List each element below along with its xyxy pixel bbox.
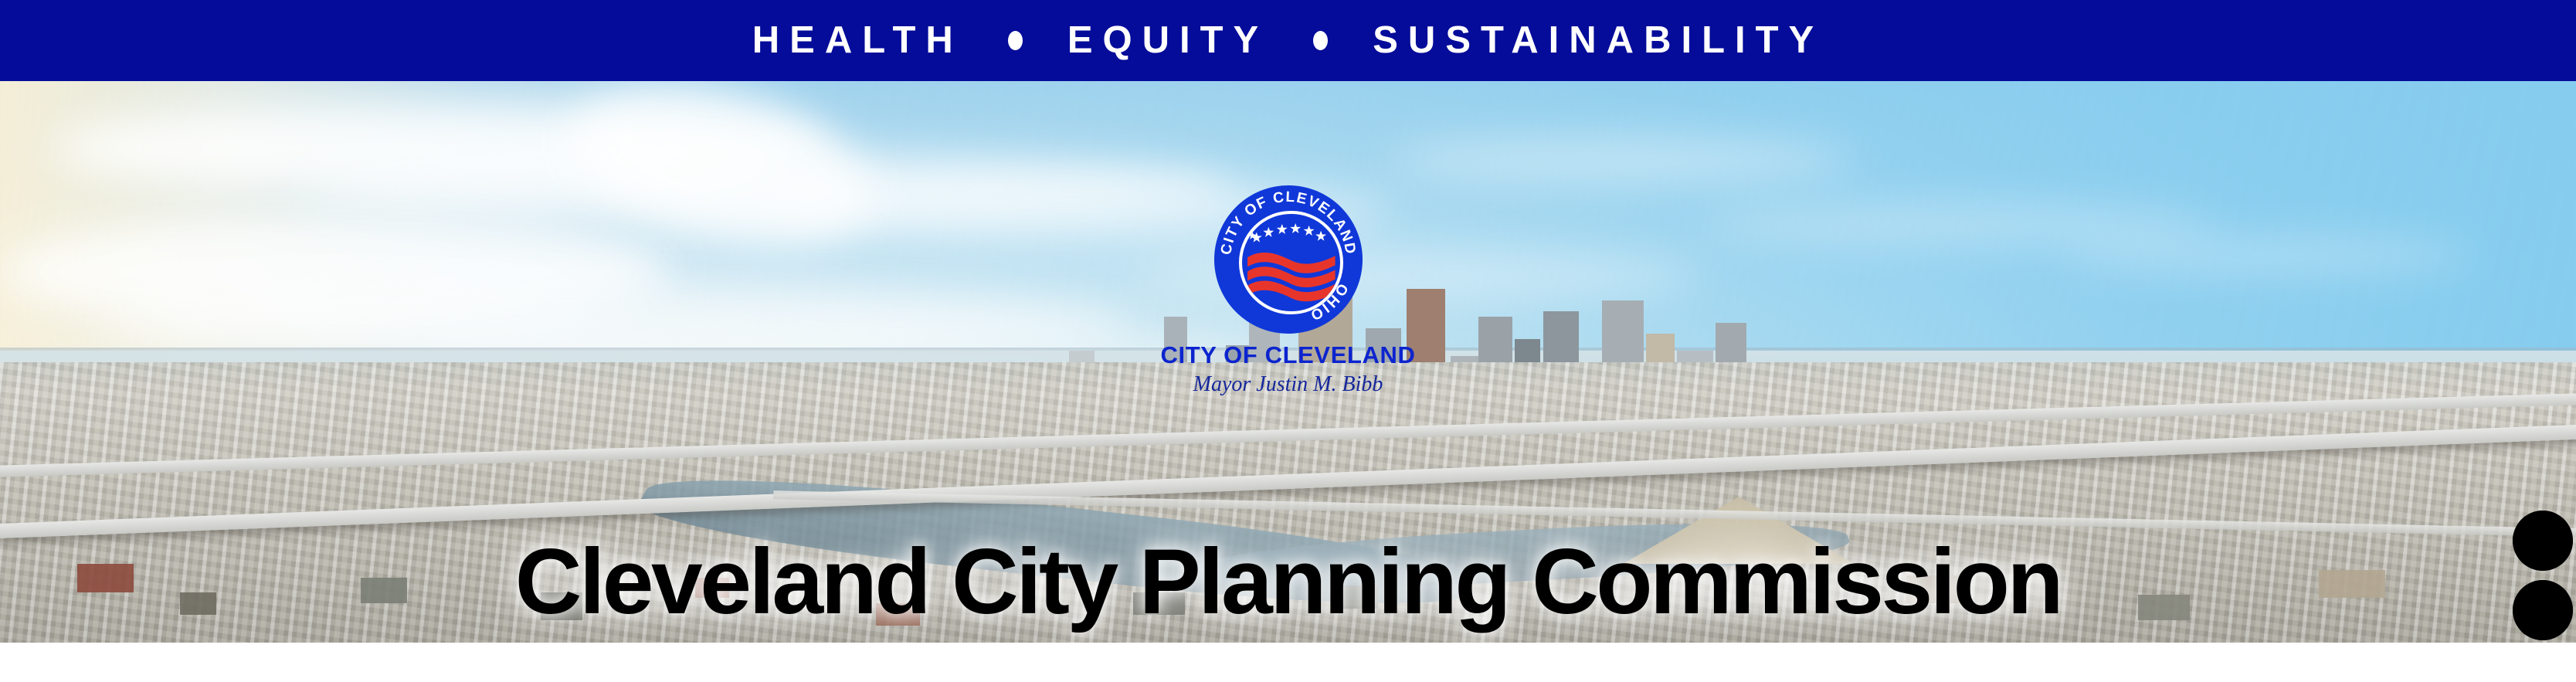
page-title: Cleveland City Planning Commission bbox=[0, 535, 2576, 628]
logo-subtitle: Mayor Justin M. Bibb bbox=[1193, 374, 1383, 395]
social-link-instagram[interactable] bbox=[2513, 580, 2573, 640]
tagline-separator-dot-2 bbox=[1313, 31, 1328, 50]
social-link-youtube[interactable] bbox=[2513, 511, 2573, 571]
tagline-word-equity: EQUITY bbox=[1067, 22, 1268, 59]
page-root: HEALTH EQUITY SUSTAINABILITY bbox=[0, 0, 2576, 682]
logo-title: CITY OF CLEVELAND bbox=[1161, 343, 1416, 367]
seal-flag-icon bbox=[1244, 243, 1339, 306]
hero-banner: CITY OF CLEVELAND OHIO bbox=[0, 81, 2576, 643]
page-bottom-whitespace bbox=[0, 643, 2576, 682]
city-of-cleveland-seal-icon: CITY OF CLEVELAND OHIO bbox=[1214, 185, 1363, 334]
tagline-word-health: HEALTH bbox=[752, 22, 963, 59]
youtube-icon bbox=[2513, 511, 2573, 571]
instagram-icon bbox=[2513, 580, 2573, 640]
social-links bbox=[2513, 511, 2573, 643]
tagline-separator-dot-1 bbox=[1008, 31, 1023, 50]
tagline-bar: HEALTH EQUITY SUSTAINABILITY bbox=[0, 0, 2576, 81]
seal-inner-disc bbox=[1239, 211, 1343, 315]
city-logo-block: CITY OF CLEVELAND OHIO bbox=[0, 185, 2576, 395]
tagline-word-sustainability: SUSTAINABILITY bbox=[1373, 22, 1824, 59]
